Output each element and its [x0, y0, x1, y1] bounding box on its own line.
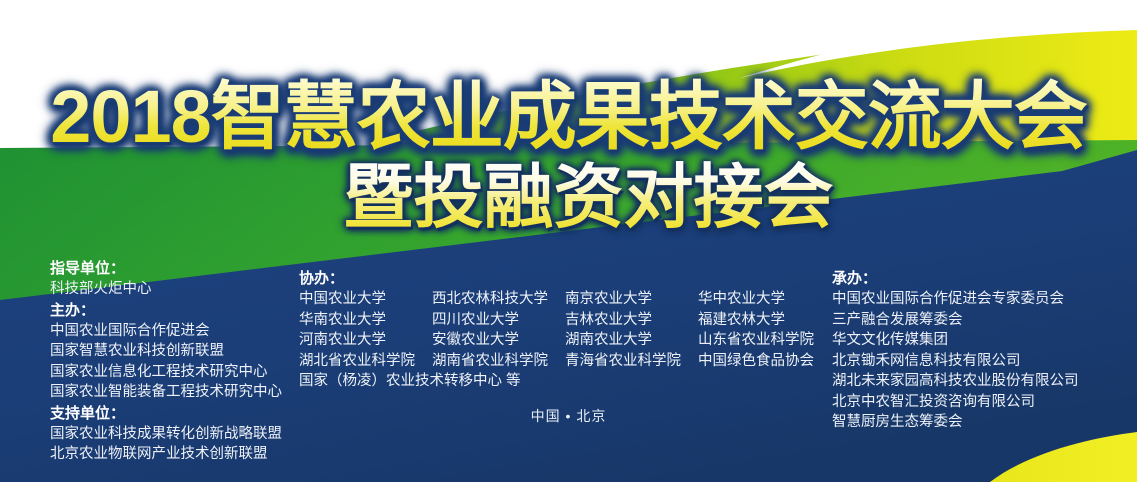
credits-item: 华南农业大学 — [299, 310, 432, 331]
credits-item: 北京锄禾网信息科技有限公司 — [832, 351, 1079, 372]
credits-row: 华南农业大学 四川农业大学 吉林农业大学 福建农林大学 — [299, 310, 814, 331]
credits-column-left: 指导单位： 科技部火炬中心 主办： 中国农业国际合作促进会 国家智慧农业科技创新… — [50, 258, 282, 465]
credits-item: 安徽农业大学 — [432, 330, 565, 351]
credits-item: 中国农业国际合作促进会专家委员会 — [832, 289, 1079, 310]
credits-row: 湖北省农业科学院 湖南省农业科学院 青海省农业科学院 中国绿色食品协会 — [299, 351, 814, 372]
credits-item: 吉林农业大学 — [565, 310, 698, 331]
credits-heading-guidance: 指导单位： — [50, 258, 282, 279]
credits-item: 四川农业大学 — [432, 310, 565, 331]
location-label: 中国 • 北京 — [0, 406, 1137, 426]
credits-item: 湖南农业大学 — [565, 330, 698, 351]
credits-item: 科技部火炬中心 — [50, 279, 282, 300]
credits-item: 华中农业大学 — [698, 289, 785, 310]
credits-item-last: 国家（杨凌）农业技术转移中心 等 — [299, 371, 814, 392]
credits-item: 华文文化传媒集团 — [832, 330, 1079, 351]
credits-heading-host: 主办： — [50, 300, 282, 321]
credits-item: 中国绿色食品协会 — [698, 351, 814, 372]
credits-item: 河南农业大学 — [299, 330, 432, 351]
credits-item: 青海省农业科学院 — [565, 351, 698, 372]
credits-heading-organizer: 承办： — [832, 268, 1079, 289]
credits-item: 国家农业信息化工程技术研究中心 — [50, 362, 282, 383]
credits-item: 北京农业物联网产业技术创新联盟 — [50, 444, 282, 465]
credits-item: 中国农业大学 — [299, 289, 432, 310]
credits-item: 国家农业科技成果转化创新战略联盟 — [50, 424, 282, 445]
credits-item: 西北农林科技大学 — [432, 289, 565, 310]
credits-item: 国家农业智能装备工程技术研究中心 — [50, 382, 282, 403]
credits-item: 福建农林大学 — [698, 310, 785, 331]
credits-row: 中国农业大学 西北农林科技大学 南京农业大学 华中农业大学 — [299, 289, 814, 310]
credits-column-middle: 协办： 中国农业大学 西北农林科技大学 南京农业大学 华中农业大学 华南农业大学… — [299, 268, 814, 392]
credits-item: 南京农业大学 — [565, 289, 698, 310]
credits-item: 山东省农业科学院 — [698, 330, 814, 351]
credits-item: 湖北未来家园高科技农业股份有限公司 — [832, 371, 1079, 392]
credits-item: 湖南省农业科学院 — [432, 351, 565, 372]
credits-item: 三产融合发展筹委会 — [832, 310, 1079, 331]
conference-banner: 2018智慧农业成果技术交流大会 暨投融资对接会 指导单位： 科技部火炬中心 主… — [0, 0, 1137, 482]
credits-row: 河南农业大学 安徽农业大学 湖南农业大学 山东省农业科学院 — [299, 330, 814, 351]
credits-item: 湖北省农业科学院 — [299, 351, 432, 372]
credits-heading-coorganizer: 协办： — [299, 268, 814, 289]
credits-item: 国家智慧农业科技创新联盟 — [50, 341, 282, 362]
credits-item: 中国农业国际合作促进会 — [50, 321, 282, 342]
